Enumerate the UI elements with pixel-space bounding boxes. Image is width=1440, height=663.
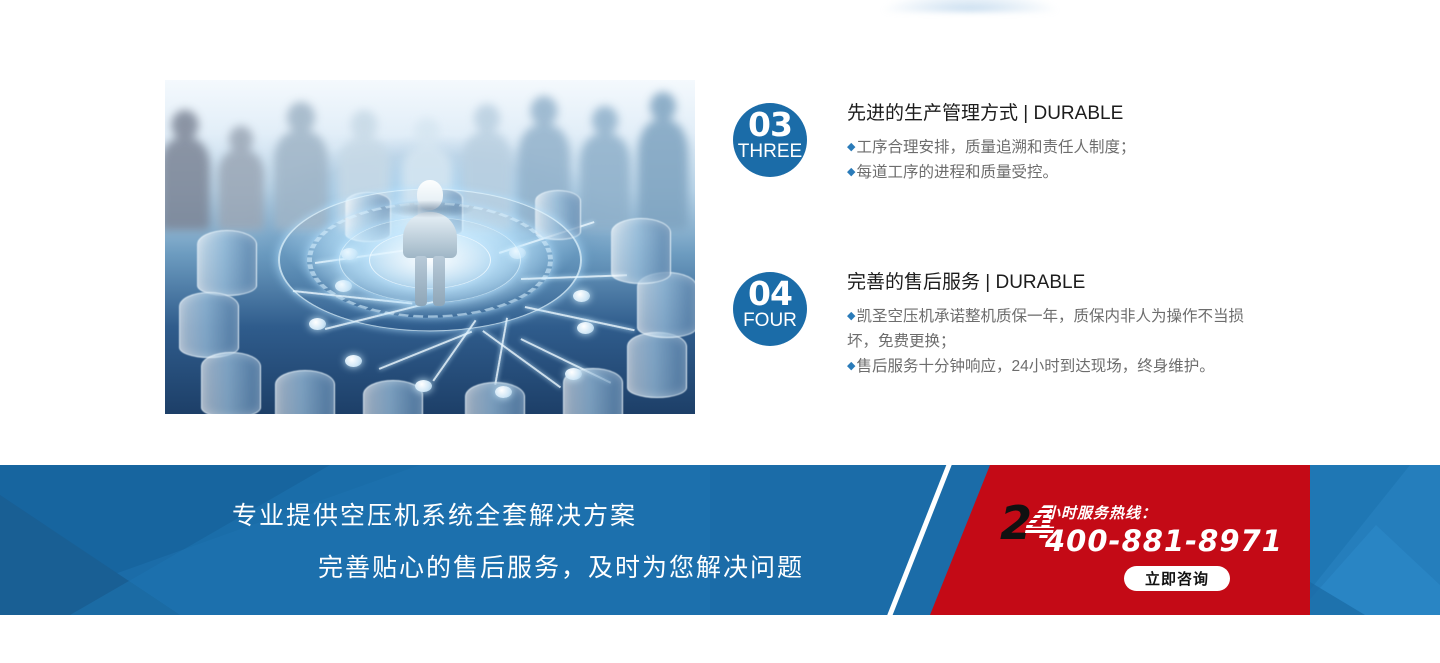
banner-slogan: 专业提供空压机系统全套解决方案 完善贴心的售后服务，及时为您解决问题 [0, 465, 930, 615]
node-cylinder [363, 380, 423, 414]
consult-now-button[interactable]: 立即咨询 [1124, 566, 1230, 591]
node-dot [565, 368, 582, 380]
feature-item: ◆工序合理安排，质量追溯和责任人制度； [847, 135, 1135, 160]
feature-item: ◆每道工序的进程和质量受控。 [847, 160, 1135, 185]
bullet-diamond-icon: ◆ [847, 360, 855, 372]
node-cylinder [611, 218, 671, 284]
bullet-diamond-icon: ◆ [847, 141, 855, 153]
node-cylinder [201, 352, 261, 414]
feature-item-text: 售后服务十分钟响应，24小时到达现场，终身维护。 [856, 358, 1214, 375]
feature-item: ◆售后服务十分钟响应，24小时到达现场，终身维护。 [847, 354, 1255, 379]
feature-text-04: 完善的售后服务 | DURABLE ◆凯圣空压机承诺整机质保一年，质保内非人为操… [847, 272, 1255, 379]
feature-badge-03: 03 THREE [733, 103, 807, 177]
bullet-diamond-icon: ◆ [847, 166, 855, 178]
feature-block-04: 04 FOUR 完善的售后服务 | DURABLE ◆凯圣空压机承诺整机质保一年… [733, 272, 1255, 379]
network-hub-illustration [165, 80, 695, 414]
node-cylinder [627, 332, 687, 398]
person-shadow [385, 200, 475, 218]
feature-item-text: 工序合理安排，质量追溯和责任人制度； [856, 139, 1135, 156]
node-cylinder [179, 292, 239, 358]
feature-item: ◆凯圣空压机承诺整机质保一年，质保内非人为操作不当损坏，免费更换； [847, 304, 1255, 354]
badge-word: FOUR [733, 311, 807, 330]
feature-block-03: 03 THREE 先进的生产管理方式 | DURABLE ◆工序合理安排，质量追… [733, 103, 1135, 185]
feature-item-text: 凯圣空压机承诺整机质保一年，质保内非人为操作不当损坏，免费更换； [847, 308, 1244, 350]
node-dot [415, 380, 432, 392]
badge-number: 03 [733, 108, 807, 141]
node-dot [309, 318, 326, 330]
feature-text-03: 先进的生产管理方式 | DURABLE ◆工序合理安排，质量追溯和责任人制度； … [847, 103, 1135, 185]
top-gradient-smudge [880, 0, 1060, 12]
node-cylinder [197, 230, 257, 296]
feature-title: 先进的生产管理方式 | DURABLE [847, 103, 1135, 126]
feature-item-text: 每道工序的进程和质量受控。 [856, 164, 1058, 181]
node-dot [495, 386, 512, 398]
hotline-label: 小时服务热线： [1045, 502, 1157, 523]
feature-badge-04: 04 FOUR [733, 272, 807, 346]
badge-number: 04 [733, 277, 807, 310]
node-cylinder [275, 370, 335, 414]
badge-word: THREE [733, 142, 807, 161]
photo-canvas [165, 80, 695, 414]
bullet-diamond-icon: ◆ [847, 310, 855, 322]
page-root: 03 THREE 先进的生产管理方式 | DURABLE ◆工序合理安排，质量追… [0, 0, 1440, 663]
hotline-phone-number: 400-881-8971 [1045, 524, 1283, 558]
node-dot [577, 322, 594, 334]
slogan-line-1: 专业提供空压机系统全套解决方案 [232, 496, 637, 532]
node-dot [573, 290, 590, 302]
node-dot [345, 355, 362, 367]
feature-title: 完善的售后服务 | DURABLE [847, 272, 1255, 295]
slogan-line-2: 完善贴心的售后服务，及时为您解决问题 [318, 548, 804, 584]
